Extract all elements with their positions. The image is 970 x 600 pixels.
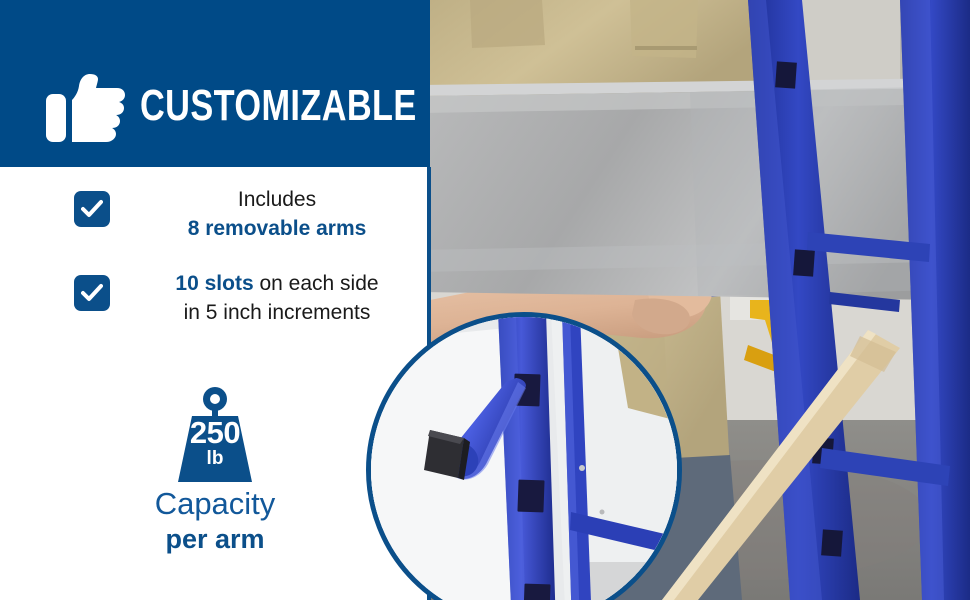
feature-1-text: Includes 8 removable arms	[132, 185, 422, 243]
inset-detail-circle	[366, 312, 682, 600]
feature-1-line2: 8 removable arms	[132, 214, 422, 243]
header-band: CUSTOMIZABLE	[0, 0, 430, 167]
checkbox-check-icon	[74, 191, 110, 227]
thumbs-up-icon	[46, 72, 132, 144]
capacity-label: Capacity	[155, 486, 276, 521]
checkbox-check-icon	[74, 275, 110, 311]
list-item: 10 slots on each side in 5 inch incremen…	[0, 269, 430, 327]
feature-1-line1: Includes	[132, 185, 422, 214]
weight-labels: 250 lb	[162, 417, 268, 470]
page-title: CUSTOMIZABLE	[140, 84, 417, 128]
feature-2-highlight: 10 slots	[175, 272, 253, 295]
feature-2-line1-plain: on each side	[254, 272, 379, 295]
capacity-value: 250	[162, 417, 268, 448]
info-panel: CUSTOMIZABLE Includes 8 removable arms	[0, 0, 430, 600]
capacity-unit: lb	[162, 448, 268, 470]
list-item: Includes 8 removable arms	[0, 185, 430, 243]
feature-banner: CUSTOMIZABLE Includes 8 removable arms	[0, 0, 970, 600]
feature-2-line1: 10 slots on each side	[132, 269, 422, 298]
inset-illustration	[366, 312, 682, 600]
weight-icon: 250 lb	[162, 386, 268, 484]
feature-list: Includes 8 removable arms 10 slots on ea…	[0, 185, 430, 353]
capacity-sublabel: per arm	[165, 524, 264, 555]
